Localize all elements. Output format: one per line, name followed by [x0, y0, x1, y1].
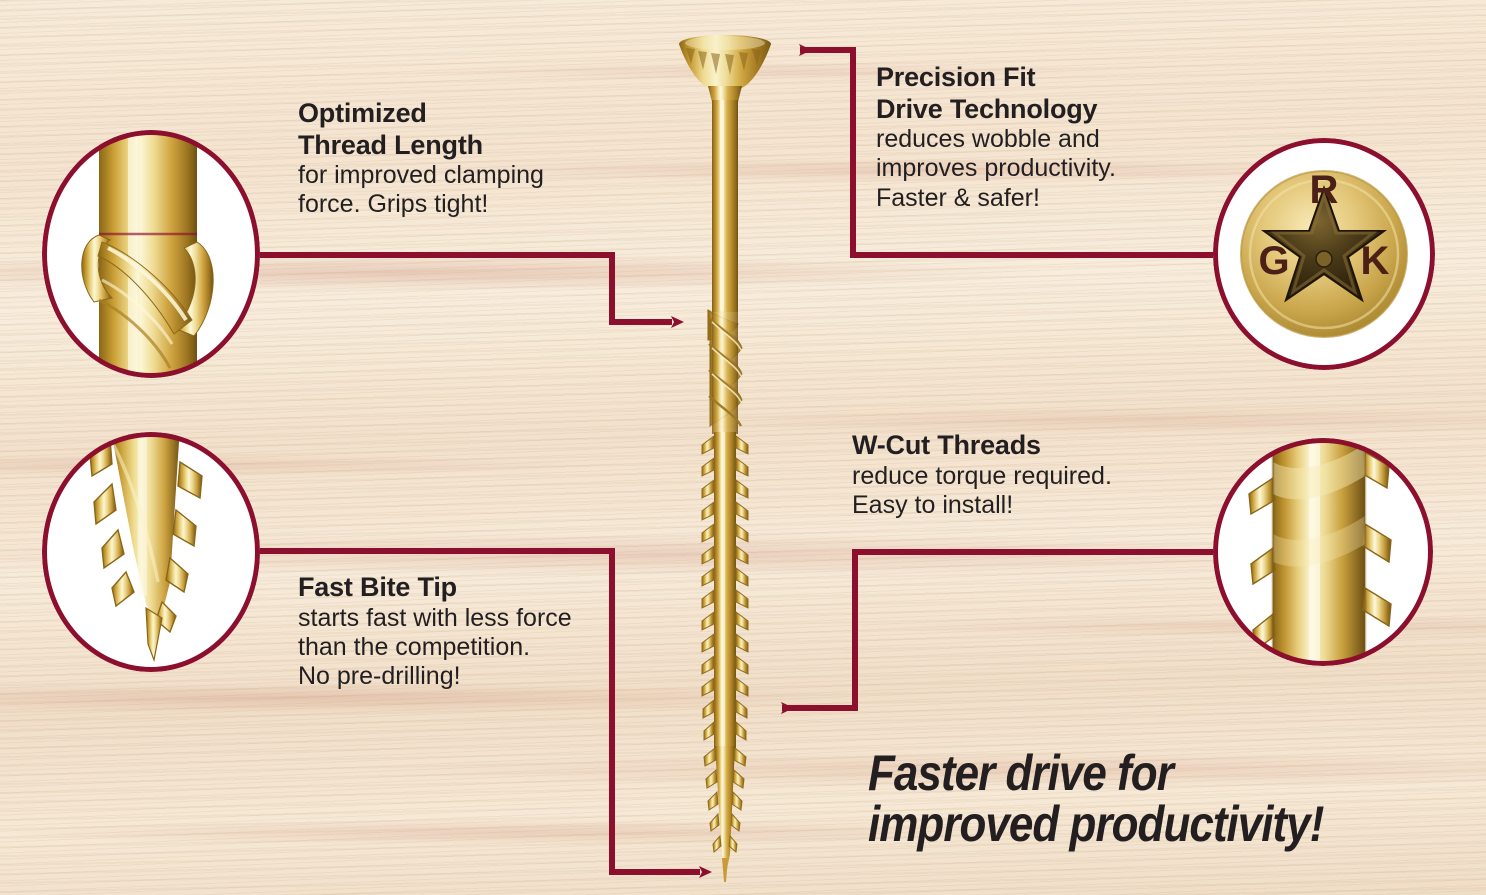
heading-line-1: W-Cut Threads: [852, 430, 1152, 462]
text-precision-fit-drive: Precision Fit Drive Technology reduces w…: [876, 62, 1176, 213]
logo-letter-k: K: [1361, 239, 1390, 283]
infographic-canvas: G R K: [0, 0, 1486, 895]
main-screw-illustration: [660, 18, 790, 888]
heading-line-2: Drive Technology: [876, 94, 1176, 126]
screw-head: [679, 35, 771, 102]
text-fast-bite-tip: Fast Bite Tip starts fast with less forc…: [298, 572, 608, 691]
body-line-1: for improved clamping: [298, 161, 588, 190]
fast-bite-tip-closeup: [42, 432, 260, 672]
tagline: Faster drive for improved productivity!: [868, 748, 1486, 850]
body-line-3: Faster & safer!: [876, 184, 1176, 213]
callout-circle-w-cut-threads: [1213, 438, 1433, 666]
w-cut-thread-closeup: [1213, 438, 1433, 666]
heading-line-1: Optimized: [298, 98, 588, 130]
body-line-1: starts fast with less force: [298, 604, 608, 633]
callout-circle-optimized-thread-length: [42, 130, 260, 378]
text-optimized-thread-length: Optimized Thread Length for improved cla…: [298, 98, 588, 220]
screw-tip: [704, 746, 746, 882]
body-line-2: than the competition.: [298, 633, 608, 662]
callout-circle-fast-bite-tip: [42, 432, 260, 672]
connector-optimized-thread-length: [255, 255, 672, 322]
callout-circle-precision-fit-drive: G R K: [1213, 138, 1435, 370]
tagline-line-2: improved productivity!: [868, 799, 1414, 850]
screw-shank: [712, 100, 738, 312]
heading-line-2: Thread Length: [298, 130, 588, 162]
heading-line-1: Fast Bite Tip: [298, 572, 608, 604]
logo-letter-r: R: [1310, 168, 1339, 212]
thread-start-closeup: [42, 130, 260, 378]
body-line-2: Easy to install!: [852, 491, 1152, 520]
grk-screw-head-closeup: G R K: [1213, 138, 1435, 370]
heading-line-1: Precision Fit: [876, 62, 1176, 94]
body-line-2: improves productivity.: [876, 154, 1176, 183]
body-line-1: reduce torque required.: [852, 462, 1152, 491]
body-line-2: force. Grips tight!: [298, 190, 588, 219]
body-line-3: No pre-drilling!: [298, 662, 608, 691]
body-line-1: reduces wobble and: [876, 125, 1176, 154]
connector-w-cut-threads: [782, 552, 1213, 708]
logo-letter-g: G: [1258, 239, 1289, 283]
tagline-line-1: Faster drive for: [868, 748, 1414, 799]
text-w-cut-threads: W-Cut Threads reduce torque required. Ea…: [852, 430, 1152, 520]
